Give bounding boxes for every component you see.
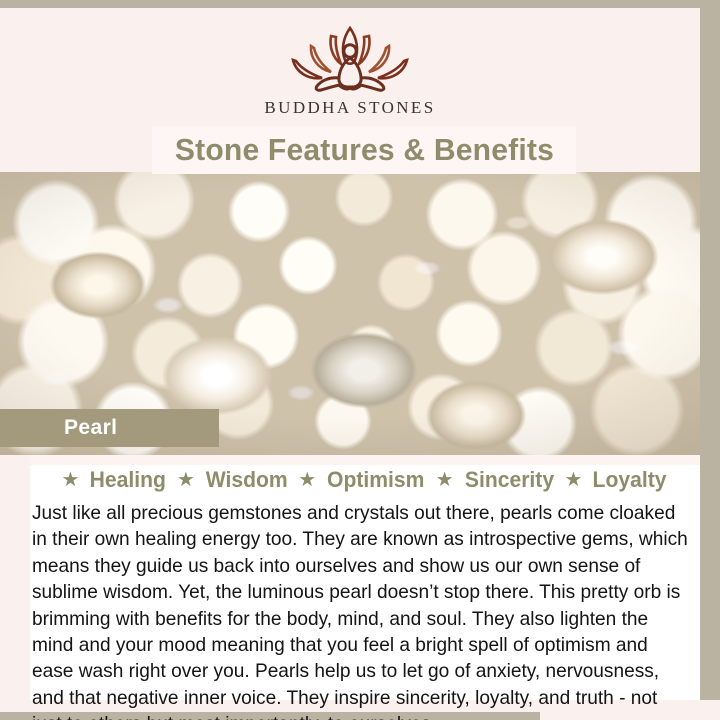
stone-description: Just like all precious gemstones and cry… [32, 500, 688, 720]
keyword-healing: Healing [90, 467, 166, 493]
content-card: ★ Healing ★ Wisdom ★ Optimism ★ Sincerit… [30, 455, 700, 700]
keyword-wisdom: Wisdom [206, 467, 288, 493]
stone-name: Pearl [64, 416, 117, 440]
star-icon: ★ [62, 470, 80, 490]
star-icon: ★ [298, 470, 316, 490]
star-icon: ★ [565, 470, 583, 490]
page-title: Stone Features & Benefits [174, 132, 553, 168]
keyword-sincerity: Sincerity [464, 467, 553, 493]
lotus-meditation-icon [284, 20, 416, 94]
title-band: Stone Features & Benefits [152, 126, 576, 174]
stone-features-infographic: BUDDHA STONES Stone Features & Benefits … [0, 0, 720, 720]
brand-name: BUDDHA STONES [264, 98, 435, 118]
star-icon: ★ [436, 470, 454, 490]
stone-name-plate: Pearl [0, 409, 219, 447]
star-icon: ★ [177, 470, 195, 490]
keyword-row: ★ Healing ★ Wisdom ★ Optimism ★ Sincerit… [30, 467, 700, 493]
keyword-optimism: Optimism [327, 467, 424, 493]
brand-header: BUDDHA STONES [0, 8, 700, 126]
keyword-loyalty: Loyalty [593, 467, 667, 493]
card-top-tint [30, 455, 700, 465]
